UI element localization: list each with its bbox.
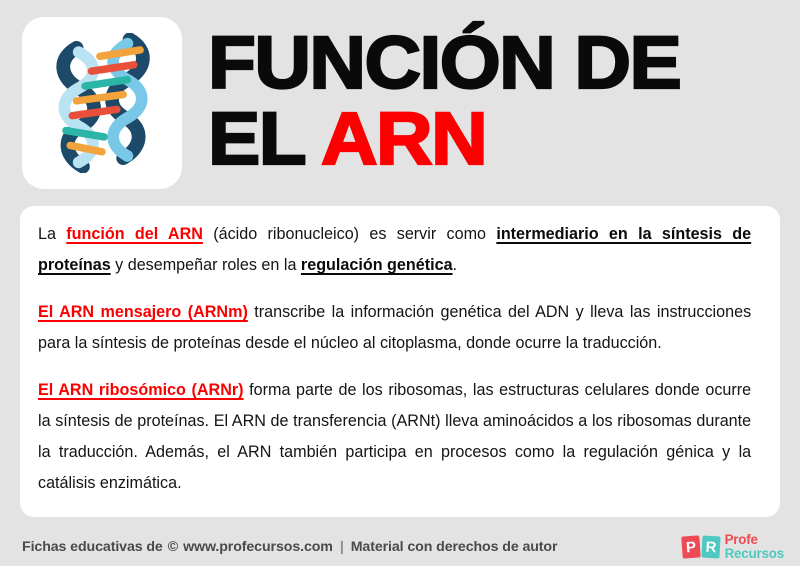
text-segment: La — [38, 225, 66, 243]
text-segment: y desempeñar roles en la — [111, 256, 301, 274]
header: FUNCIÓN DE EL ARN — [0, 0, 800, 206]
brand-word-profe: Profe — [725, 533, 784, 547]
brand-logo[interactable]: P R Profe Recursos — [682, 533, 784, 560]
highlight-regulacion-genetica: regulación genética — [301, 256, 453, 274]
title-line-2: EL ARN — [208, 105, 800, 173]
footer-prefix: Fichas educativas de — [22, 539, 163, 555]
title-word-arn: ARN — [321, 97, 486, 180]
brand-marks: P R — [682, 536, 720, 558]
footer-separator: | — [338, 539, 346, 555]
infographic-sheet: FUNCIÓN DE EL ARN La función del ARN (ác… — [0, 0, 800, 566]
paragraph-arnr: El ARN ribosómico (ARNr) forma parte de … — [38, 375, 751, 499]
footer-credit: Fichas educativas de © www.profecursos.c… — [22, 539, 557, 555]
paragraph-arnm: El ARN mensajero (ARNm) transcribe la in… — [38, 297, 751, 359]
title-line-1: FUNCIÓN DE — [208, 29, 800, 97]
brand-mark-p-icon: P — [681, 535, 700, 558]
brand-wordmark: Profe Recursos — [725, 533, 784, 560]
content-card: La función del ARN (ácido ribonucleico) … — [20, 206, 780, 517]
highlight-arn-mensajero: El ARN mensajero (ARNm) — [38, 303, 248, 321]
text-segment: . — [453, 256, 457, 274]
footer: Fichas educativas de © www.profecursos.c… — [0, 528, 800, 566]
footer-website-link[interactable]: www.profecursos.com — [183, 539, 333, 555]
highlight-arn-ribosomico: El ARN ribosómico (ARNr) — [38, 381, 244, 399]
brand-mark-r-icon: R — [701, 536, 720, 559]
page-title: FUNCIÓN DE EL ARN — [182, 29, 782, 177]
title-word-el: EL — [208, 97, 304, 180]
dna-helix-icon — [38, 33, 166, 173]
paragraph-definition: La función del ARN (ácido ribonucleico) … — [38, 219, 751, 281]
footer-rights: Material con derechos de autor — [351, 539, 558, 555]
dna-icon-tile — [22, 17, 182, 189]
text-segment: (ácido ribonucleico) es servir como — [203, 225, 496, 243]
content-card-wrapper: La función del ARN (ácido ribonucleico) … — [0, 206, 800, 528]
copyright-icon: © — [168, 539, 178, 555]
brand-word-recursos: Recursos — [725, 547, 784, 561]
highlight-funcion-del-arn: función del ARN — [66, 225, 203, 243]
